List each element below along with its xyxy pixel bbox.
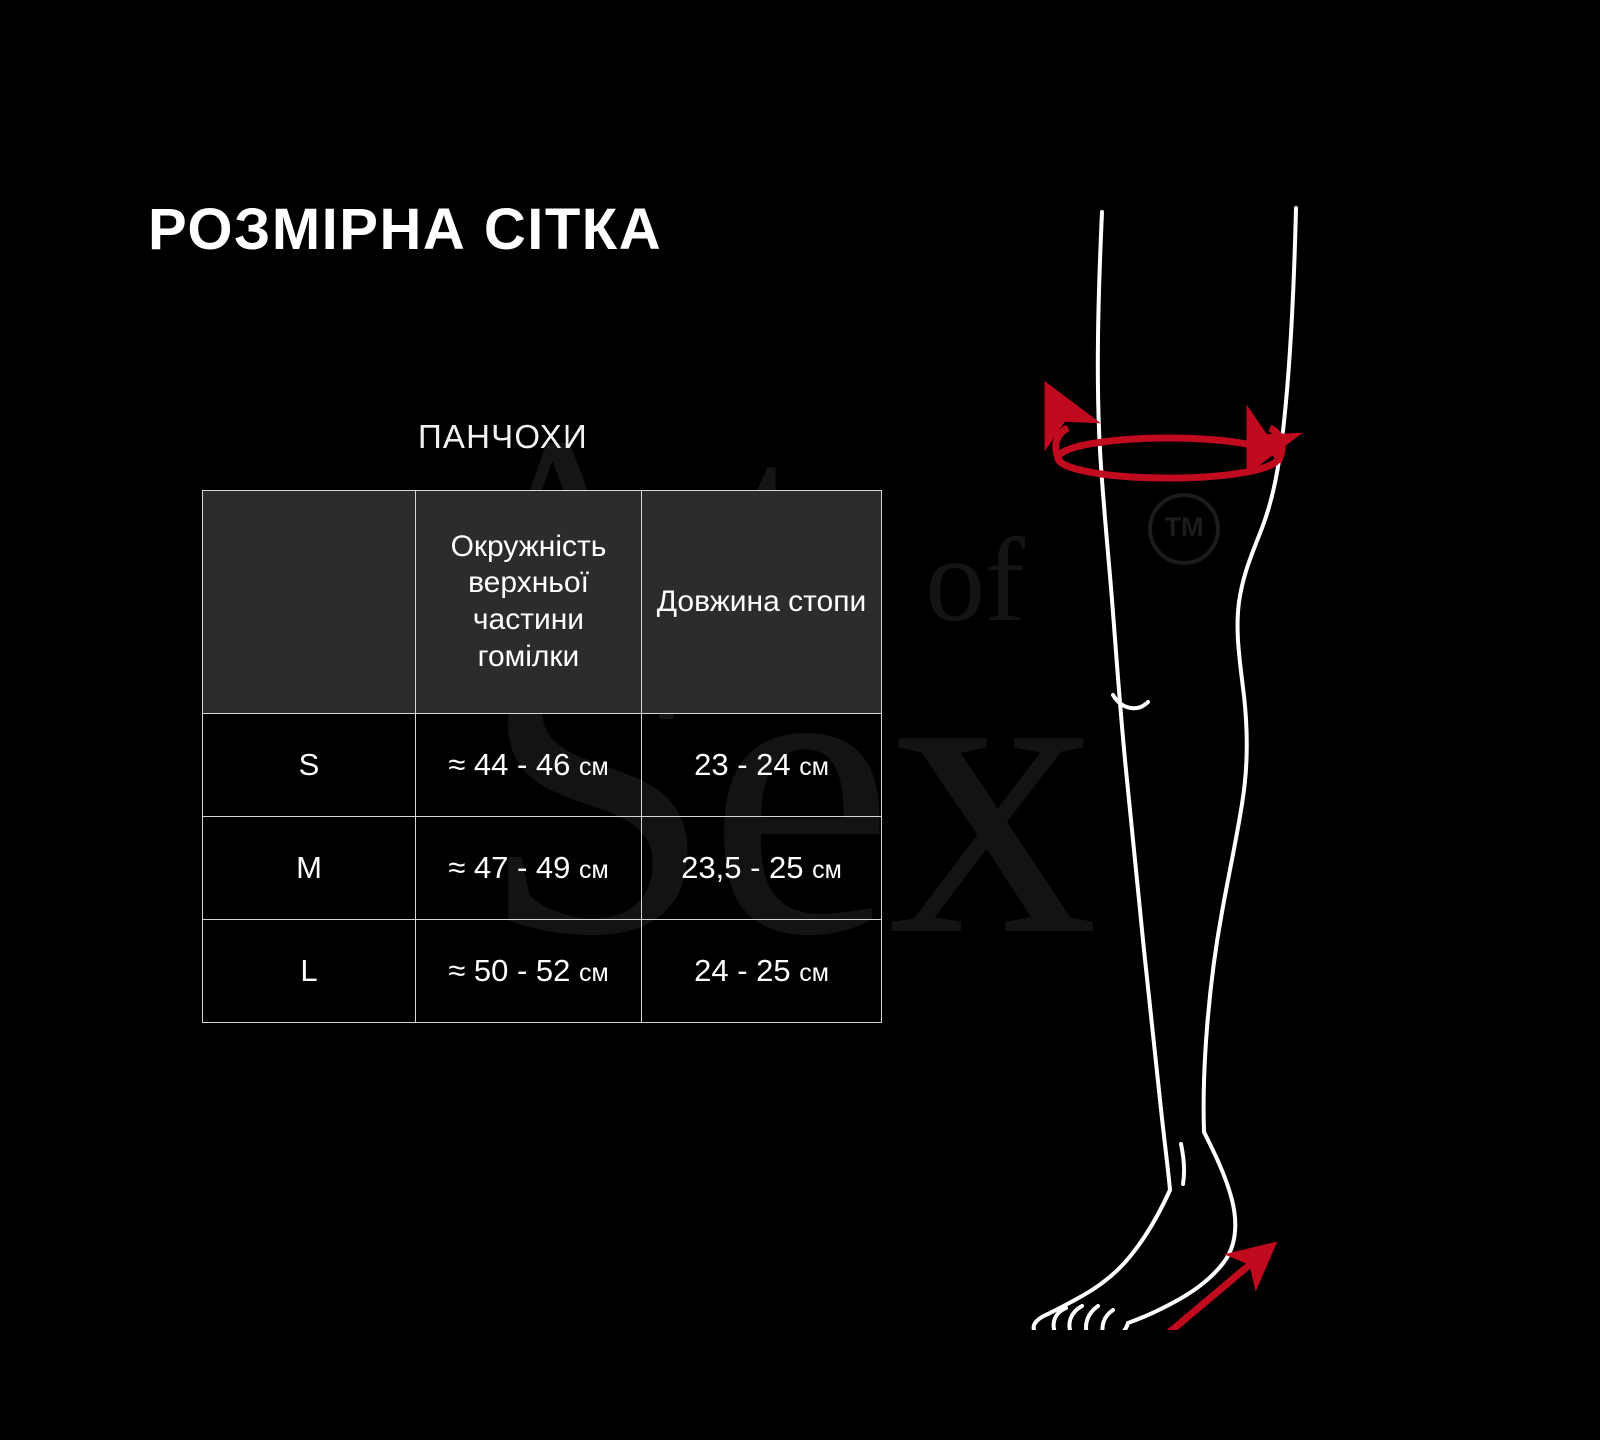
cell-circumference-unit: см bbox=[579, 753, 609, 781]
toe-fourth bbox=[1086, 1306, 1098, 1330]
size-chart-page: Art of Sex TM РОЗМІРНА СІТКА ПАНЧОХИ Окр… bbox=[0, 0, 1600, 1440]
cell-circumference-value: ≈ 50 - 52 bbox=[448, 953, 579, 988]
cell-size: L bbox=[203, 920, 416, 1023]
cell-foot-length-unit: см bbox=[799, 753, 829, 781]
cell-circumference: ≈ 50 - 52 см bbox=[416, 920, 642, 1023]
cell-circumference-unit: см bbox=[579, 959, 609, 987]
cell-foot-length-value: 23 - 24 bbox=[694, 747, 799, 782]
cell-foot-length: 23 - 24 см bbox=[642, 714, 882, 817]
cell-size: M bbox=[203, 817, 416, 920]
foot-length-arrow bbox=[1096, 1246, 1272, 1330]
column-header-circumference: Окружність верхньої частини гомілки bbox=[416, 491, 642, 714]
section-label-stockings: ПАНЧОХИ bbox=[418, 418, 588, 456]
table-header: Окружність верхньої частини гомілки Довж… bbox=[203, 491, 882, 714]
cell-foot-length: 24 - 25 см bbox=[642, 920, 882, 1023]
cell-foot-length-value: 24 - 25 bbox=[694, 953, 799, 988]
cell-circumference: ≈ 47 - 49 см bbox=[416, 817, 642, 920]
size-table: Окружність верхньої частини гомілки Довж… bbox=[202, 490, 882, 1023]
table-row: L ≈ 50 - 52 см 24 - 25 см bbox=[203, 920, 882, 1023]
cell-circumference: ≈ 44 - 46 см bbox=[416, 714, 642, 817]
foot-outline-top bbox=[1048, 1190, 1170, 1314]
cell-circumference-value: ≈ 44 - 46 bbox=[448, 747, 579, 782]
cell-size: S bbox=[203, 714, 416, 817]
table-header-row: Окружність верхньої частини гомілки Довж… bbox=[203, 491, 882, 714]
cell-foot-length: 23,5 - 25 см bbox=[642, 817, 882, 920]
column-header-size bbox=[203, 491, 416, 714]
leg-outline-right bbox=[1204, 208, 1296, 1132]
toe-third bbox=[1069, 1306, 1082, 1330]
leg-illustration bbox=[1000, 150, 1420, 1330]
table-row: M ≈ 47 - 49 см 23,5 - 25 см bbox=[203, 817, 882, 920]
thigh-circumference-ellipse bbox=[1058, 438, 1278, 478]
table-row: S ≈ 44 - 46 см 23 - 24 см bbox=[203, 714, 882, 817]
page-title: РОЗМІРНА СІТКА bbox=[148, 196, 662, 263]
foot-sole-line bbox=[1056, 1323, 1128, 1330]
cell-circumference-unit: см bbox=[579, 856, 609, 884]
cell-foot-length-unit: см bbox=[799, 959, 829, 987]
leg-outline-left bbox=[1098, 212, 1170, 1190]
cell-foot-length-unit: см bbox=[812, 856, 842, 884]
cell-circumference-value: ≈ 47 - 49 bbox=[448, 850, 579, 885]
toe-little bbox=[1102, 1310, 1113, 1330]
table-body: S ≈ 44 - 46 см 23 - 24 см M ≈ 47 - 49 см… bbox=[203, 714, 882, 1023]
cell-foot-length-value: 23,5 - 25 bbox=[681, 850, 812, 885]
ankle-detail-line bbox=[1181, 1144, 1184, 1184]
column-header-foot-length: Довжина стопи bbox=[642, 491, 882, 714]
